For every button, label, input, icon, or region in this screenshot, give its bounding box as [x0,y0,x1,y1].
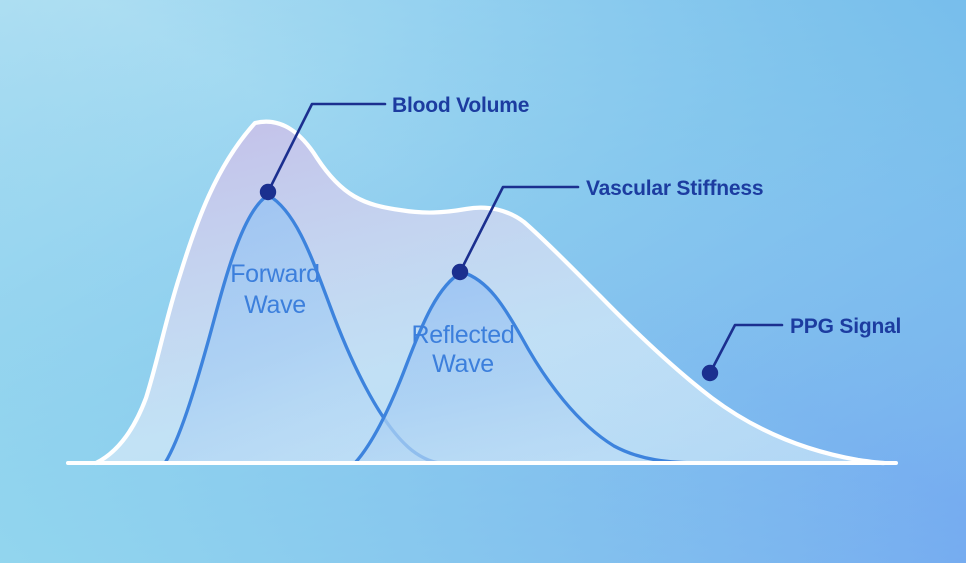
forward-wave-label-line2: Wave [244,291,306,319]
ppg-signal-dot [702,365,718,381]
reflected-wave-label-line1: Reflected [412,321,515,349]
callout-label-vascular-stiffness: Vascular Stiffness [586,177,763,200]
callout-label-blood-volume: Blood Volume [392,94,529,117]
ppg-diagram-canvas: Blood Volume Vascular Stiffness PPG Sign… [0,0,966,563]
ppg-waveform-figure: Blood Volume Vascular Stiffness PPG Sign… [0,0,966,563]
blood-volume-dot [260,184,276,200]
vascular-stiffness-dot [452,264,468,280]
reflected-wave-label-line2: Wave [432,350,494,378]
forward-wave-label-line1: Forward [230,260,320,288]
callout-label-ppg-signal: PPG Signal [790,315,901,338]
